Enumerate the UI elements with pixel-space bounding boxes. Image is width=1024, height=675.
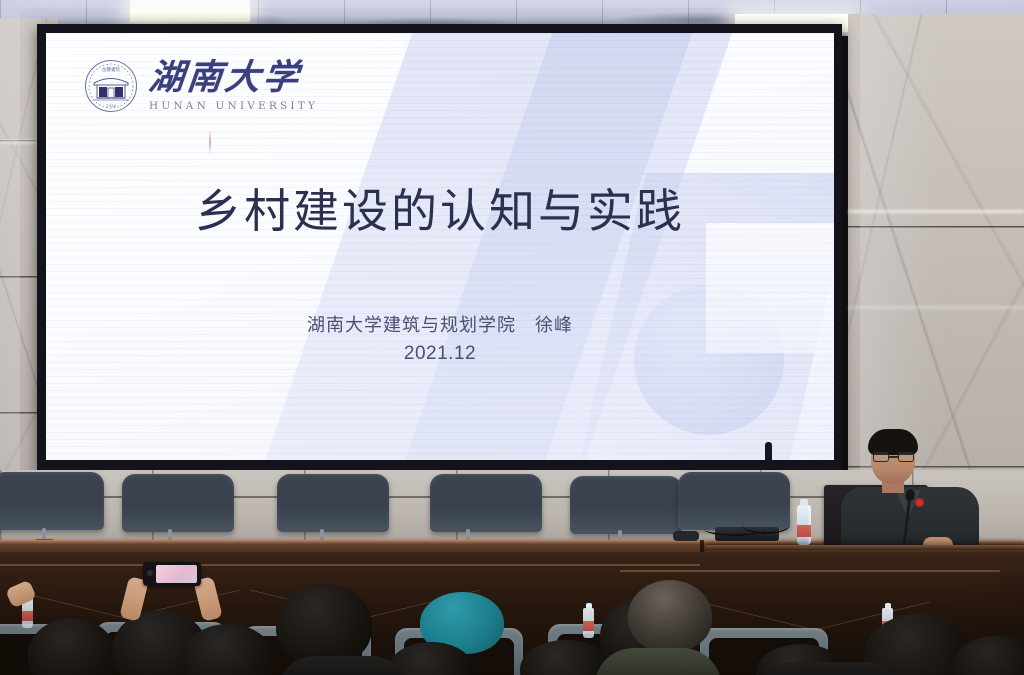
slide-accent-line	[209, 129, 211, 155]
stage-chair-5[interactable]	[570, 476, 682, 534]
audience-shoulders-3	[760, 662, 900, 675]
audience-head-gray	[628, 580, 712, 652]
phone-camera-lens-icon	[147, 570, 153, 576]
phone-screen	[156, 565, 197, 583]
speaker-lapel-badge	[915, 498, 924, 507]
stage-chair-1[interactable]	[0, 472, 104, 530]
hunan-university-logo: 岳麓書院 1926 湖南大学 HUNAN UNIVERSITY	[84, 59, 318, 113]
desk-cable-2	[742, 516, 790, 534]
hunan-university-seal-icon: 岳麓書院 1926	[84, 59, 138, 113]
stage-chair-2[interactable]	[122, 474, 234, 532]
slide-title: 乡村建设的认知与实践	[46, 175, 834, 241]
logo-english-name: HUNAN UNIVERSITY	[149, 101, 318, 112]
logo-wordmark: 湖南大学 HUNAN UNIVERSITY	[149, 60, 318, 112]
svg-text:1926: 1926	[106, 103, 117, 108]
presentation-slide: 岳麓書院 1926 湖南大学 HUNAN UNIVERSITY 乡村建设的认知与…	[46, 33, 834, 460]
ceiling-light-panel-1	[130, 0, 250, 22]
slide-presenter-line: 湖南大学建筑与规划学院 徐峰	[46, 311, 834, 337]
logo-chinese-name: 湖南大学	[147, 60, 320, 95]
table-microphone-1[interactable]	[42, 528, 46, 540]
svg-text:岳麓書院: 岳麓書院	[102, 66, 120, 73]
audience-head-filming	[276, 584, 372, 666]
stage-chair-3[interactable]	[277, 474, 389, 532]
front-panel-trim-2	[620, 570, 1000, 572]
projection-screen[interactable]: 岳麓書院 1926 湖南大学 HUNAN UNIVERSITY 乡村建设的认知与…	[37, 24, 842, 472]
audience-shoulders-2	[278, 656, 408, 675]
stage-water-bottle[interactable]	[797, 505, 811, 545]
speaker-glasses-icon	[873, 452, 914, 462]
audience-smartphone[interactable]	[143, 562, 201, 586]
screen-edge-sensor-icon	[765, 442, 772, 462]
wall-highlight-right-2	[848, 306, 1024, 311]
wall-highlight-right	[848, 210, 1024, 215]
podium-top-edge	[706, 545, 1024, 550]
slide-date: 2021.12	[46, 343, 834, 365]
desk-device-small[interactable]	[673, 531, 699, 541]
stage-chair-4[interactable]	[430, 474, 542, 532]
front-panel-trim-1	[0, 564, 700, 566]
audience-bottle-3[interactable]	[583, 608, 594, 638]
bottle-label	[797, 525, 811, 537]
lecture-hall-scene: 岳麓書院 1926 湖南大学 HUNAN UNIVERSITY 乡村建设的认知与…	[0, 0, 1024, 675]
